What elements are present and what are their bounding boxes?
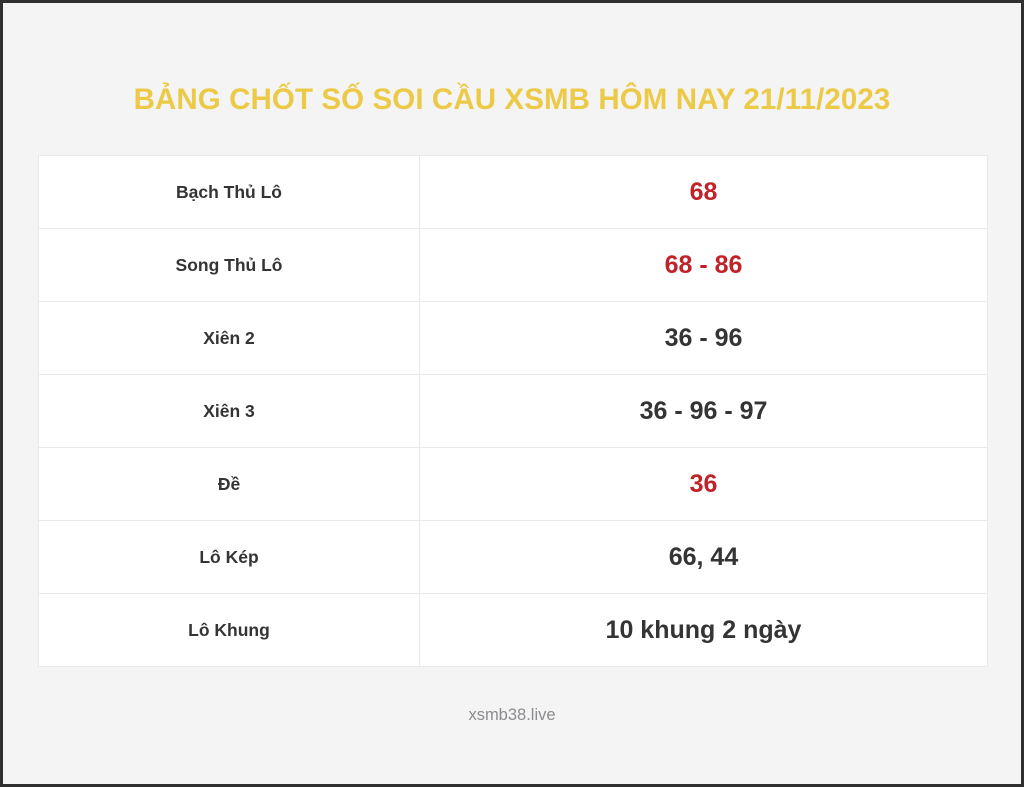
table-row: Lô Kép 66, 44: [39, 521, 988, 594]
page-title: BẢNG CHỐT SỐ SOI CẦU XSMB HÔM NAY 21/11/…: [3, 83, 1021, 117]
row-value: 68: [690, 178, 718, 206]
row-value: 66, 44: [669, 543, 739, 571]
row-label: Đề: [218, 474, 240, 494]
table-row: Xiên 2 36 - 96: [39, 302, 988, 375]
table-cell-label: Lô Kép: [39, 521, 420, 594]
chot-so-table-body: Bạch Thủ Lô 68 Song Thủ Lô 68 - 86 Xiên …: [39, 156, 988, 667]
table-cell-value: 66, 44: [420, 521, 988, 594]
table-cell-label: Đề: [39, 448, 420, 521]
table-row: Xiên 3 36 - 96 - 97: [39, 375, 988, 448]
table-cell-label: Xiên 3: [39, 375, 420, 448]
row-value: 10 khung 2 ngày: [606, 616, 802, 644]
row-value: 68 - 86: [665, 251, 743, 279]
table-cell-value: 10 khung 2 ngày: [420, 594, 988, 667]
row-value: 36: [690, 470, 718, 498]
row-value: 36 - 96 - 97: [640, 397, 768, 425]
table-row: Lô Khung 10 khung 2 ngày: [39, 594, 988, 667]
table-cell-value: 68 - 86: [420, 229, 988, 302]
row-label: Xiên 3: [203, 401, 255, 421]
row-value: 36 - 96: [665, 324, 743, 352]
table-cell-value: 36: [420, 448, 988, 521]
row-label: Xiên 2: [203, 328, 255, 348]
table-cell-label: Bạch Thủ Lô: [39, 156, 420, 229]
table-cell-value: 36 - 96 - 97: [420, 375, 988, 448]
table-cell-label: Xiên 2: [39, 302, 420, 375]
table-cell-label: Song Thủ Lô: [39, 229, 420, 302]
table-row: Bạch Thủ Lô 68: [39, 156, 988, 229]
chot-so-table: Bạch Thủ Lô 68 Song Thủ Lô 68 - 86 Xiên …: [38, 155, 988, 667]
row-label: Song Thủ Lô: [176, 255, 283, 275]
page-frame: BẢNG CHỐT SỐ SOI CẦU XSMB HÔM NAY 21/11/…: [3, 3, 1021, 784]
row-label: Lô Khung: [188, 620, 270, 640]
table-cell-value: 68: [420, 156, 988, 229]
row-label: Bạch Thủ Lô: [176, 182, 282, 202]
table-row: Song Thủ Lô 68 - 86: [39, 229, 988, 302]
table-cell-label: Lô Khung: [39, 594, 420, 667]
table-row: Đề 36: [39, 448, 988, 521]
table-cell-value: 36 - 96: [420, 302, 988, 375]
row-label: Lô Kép: [199, 547, 258, 567]
site-watermark: xsmb38.live: [3, 706, 1021, 725]
